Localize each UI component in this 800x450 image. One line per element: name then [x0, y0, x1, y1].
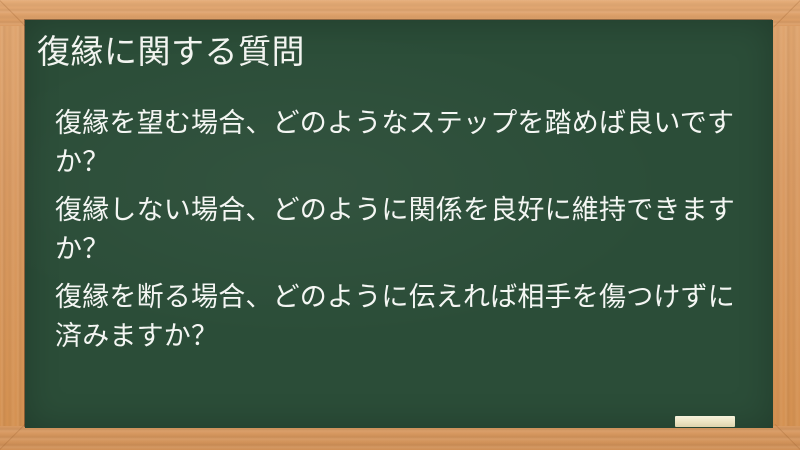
frame-rail-bottom — [0, 426, 800, 450]
chalkboard-slide: 復縁に関する質問 復縁を望む場合、どのようなステップを踏めば良いですか？ 復縁し… — [0, 0, 800, 450]
chalk-stick-icon — [675, 416, 735, 427]
list-item: 復縁を断る場合、どのように伝えれば相手を傷つけずに済みますか？ — [55, 278, 745, 357]
page-title: 復縁に関する質問 — [37, 32, 737, 72]
list-item: 復縁しない場合、どのように関係を良好に維持できますか？ — [55, 191, 745, 270]
list-item: 復縁を望む場合、どのようなステップを踏めば良いですか？ — [55, 104, 745, 183]
chalkboard-surface: 復縁に関する質問 復縁を望む場合、どのようなステップを踏めば良いですか？ 復縁し… — [25, 20, 773, 428]
question-list: 復縁を望む場合、どのようなステップを踏めば良いですか？ 復縁しない場合、どのよう… — [55, 104, 745, 364]
